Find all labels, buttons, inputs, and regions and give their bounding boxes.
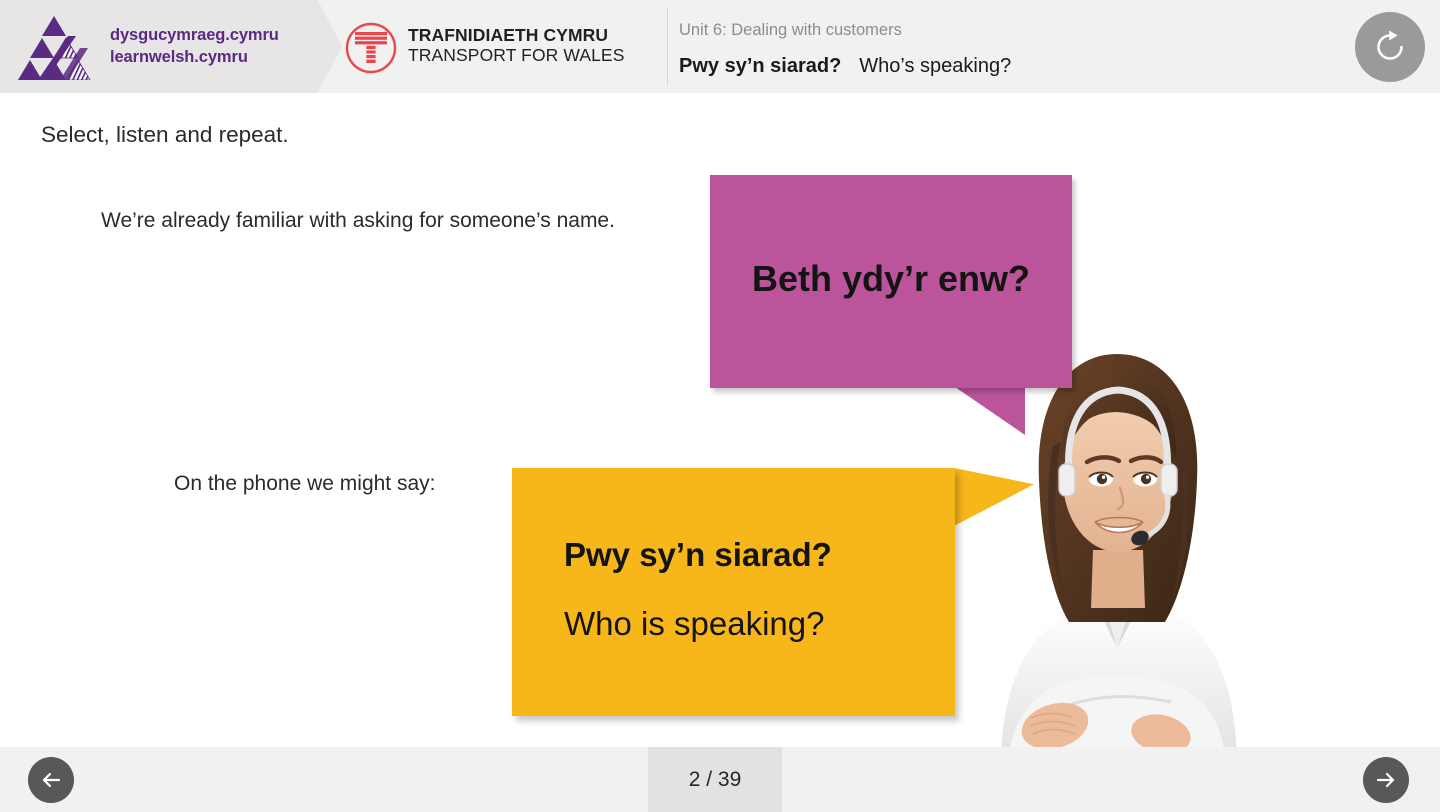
header-divider [667, 8, 668, 86]
transport-for-wales-roundel-icon [343, 21, 399, 75]
page-counter: 2 / 39 [648, 747, 782, 812]
partner-wordmark: TRAFNIDIAETH CYMRU TRANSPORT FOR WALES [408, 26, 624, 65]
previous-slide-button[interactable] [28, 757, 74, 803]
context-line-phone: On the phone we might say: [174, 472, 436, 496]
brand-chevron-divider [300, 0, 342, 93]
page-counter-label: 2 / 39 [689, 768, 742, 792]
yellow-bubble-text-english: Who is speaking? [564, 605, 824, 643]
app-header: dysgucymraeg.cymru learnwelsh.cymru TRAF… [0, 0, 1440, 93]
page-title-english: Who’s speaking? [859, 55, 1011, 77]
magenta-bubble-text: Beth ydy’r enw? [710, 258, 1072, 300]
partner-name-cy: TRAFNIDIAETH CYMRU [408, 26, 624, 46]
unit-label: Unit 6: Dealing with customers [679, 21, 902, 40]
context-line-familiar: We’re already familiar with asking for s… [101, 209, 615, 233]
instruction-text: Select, listen and repeat. [41, 122, 289, 148]
partner-name-en: TRANSPORT FOR WALES [408, 46, 624, 66]
brand-wordmark: dysgucymraeg.cymru learnwelsh.cymru [110, 24, 279, 69]
triangle-mosaic-logo-icon [10, 14, 98, 80]
replay-button[interactable] [1355, 12, 1425, 82]
brand-line-2: learnwelsh.cymru [110, 46, 279, 68]
slide-stage: dysgucymraeg.cymru learnwelsh.cymru TRAF… [0, 0, 1440, 812]
page-title-welsh: Pwy sy’n siarad? [679, 55, 841, 77]
yellow-speech-bubble[interactable] [512, 468, 955, 716]
brand-line-1: dysgucymraeg.cymru [110, 24, 279, 46]
page-title: Pwy sy’n siarad?Who’s speaking? [679, 55, 1011, 78]
next-slide-button[interactable] [1363, 757, 1409, 803]
yellow-bubble-text-welsh: Pwy sy’n siarad? [564, 536, 832, 574]
